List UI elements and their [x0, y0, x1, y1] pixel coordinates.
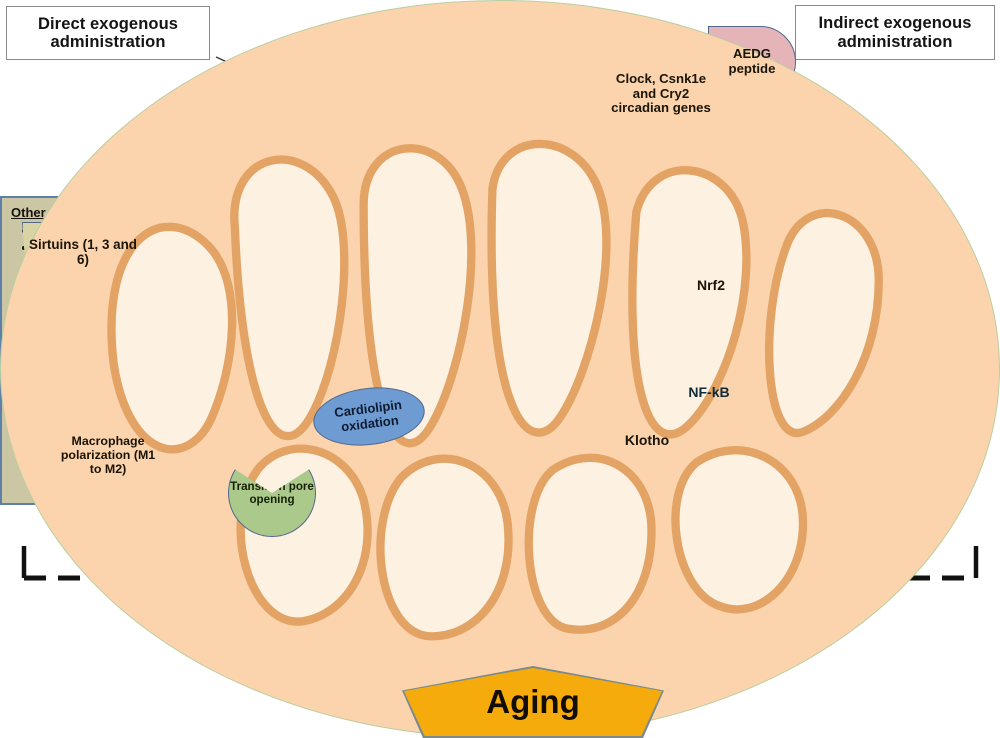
cristae	[0, 0, 1000, 738]
aging-node: Aging	[404, 668, 662, 736]
mitochondrion	[0, 0, 264, 196]
diagram-canvas: Direct exogenous administration Indirect…	[0, 0, 1000, 738]
